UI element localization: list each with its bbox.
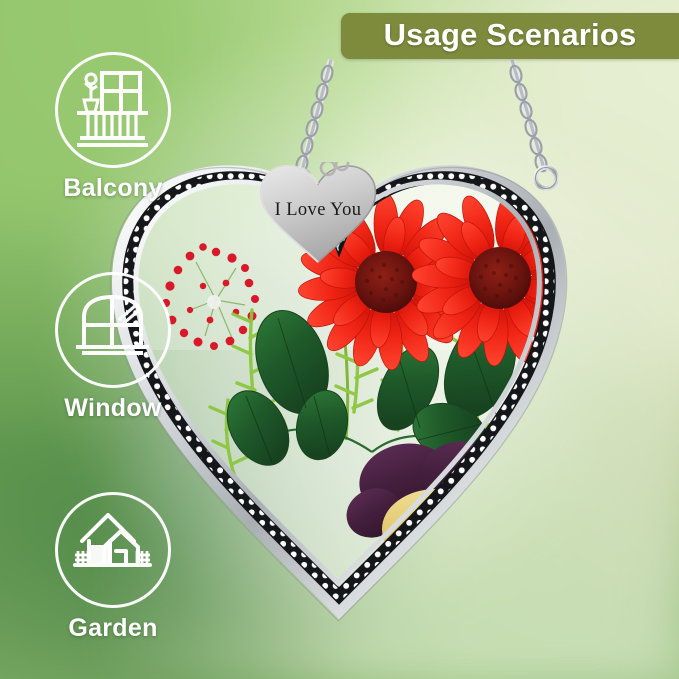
product-marketing-image: I Love You Usage Scenarios [0, 0, 679, 679]
scenario-window: Window [38, 272, 188, 423]
scenario-label-balcony: Balcony [38, 174, 188, 203]
chain-right [509, 60, 549, 173]
i-love-you-charm: I Love You [256, 162, 380, 266]
chain-left [295, 60, 334, 178]
charm-engraving: I Love You [256, 200, 380, 221]
usage-scenarios-banner: Usage Scenarios [341, 13, 679, 59]
balcony-icon-ring [55, 52, 171, 168]
scenario-balcony: Balcony [38, 52, 188, 203]
window-icon [58, 275, 167, 384]
window-icon-ring [55, 272, 171, 388]
garden-icon-ring [55, 492, 171, 608]
banner-title: Usage Scenarios [384, 17, 637, 55]
garden-icon [58, 495, 167, 604]
scenario-label-window: Window [38, 394, 188, 423]
balcony-icon [58, 55, 167, 164]
scenario-label-garden: Garden [38, 614, 188, 643]
scenario-garden: Garden [38, 492, 188, 643]
